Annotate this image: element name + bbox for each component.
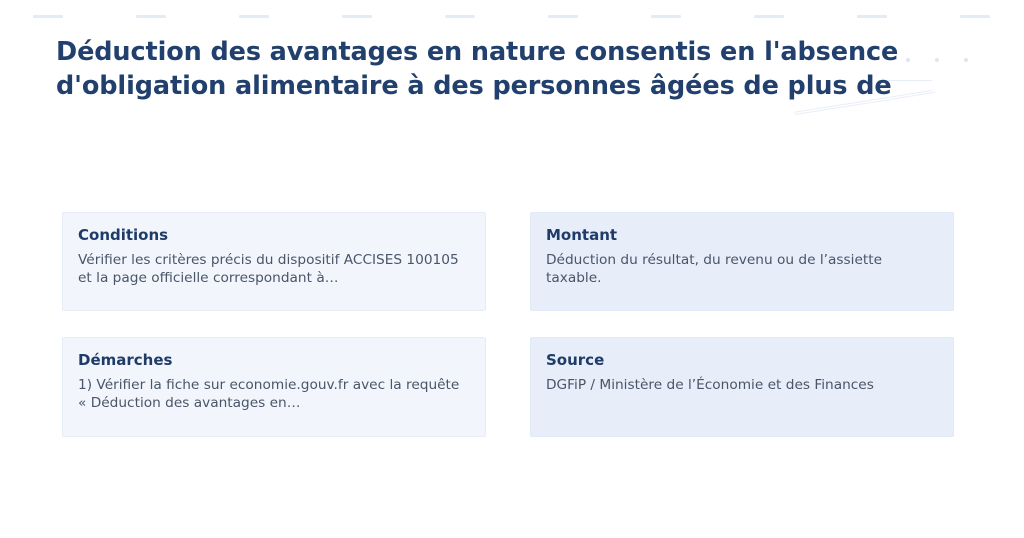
decorative-dash bbox=[239, 15, 269, 18]
decorative-dash bbox=[342, 15, 372, 18]
slide-canvas: Déduction des avantages en nature consen… bbox=[0, 0, 1024, 538]
decorative-dash bbox=[960, 15, 990, 18]
decorative-dash bbox=[548, 15, 578, 18]
info-card-title: Source bbox=[546, 352, 937, 369]
info-card-conditions: ConditionsVérifier les critères précis d… bbox=[62, 212, 486, 311]
info-card-title: Montant bbox=[546, 227, 937, 244]
info-card-body: Déduction du résultat, du revenu ou de l… bbox=[546, 251, 937, 289]
decorative-dash bbox=[651, 15, 681, 18]
info-card-title: Conditions bbox=[78, 227, 469, 244]
decorative-dash bbox=[136, 15, 166, 18]
decorative-dash-row bbox=[0, 15, 1024, 19]
info-card-body: DGFiP / Ministère de l’Économie et des F… bbox=[546, 376, 937, 395]
decorative-dash bbox=[445, 15, 475, 18]
decorative-dot bbox=[964, 58, 968, 62]
page-title: Déduction des avantages en nature consen… bbox=[56, 36, 916, 104]
info-card-demarches: Démarches1) Vérifier la fiche sur econom… bbox=[62, 337, 486, 437]
info-card-title: Démarches bbox=[78, 352, 469, 369]
info-card-source: SourceDGFiP / Ministère de l’Économie et… bbox=[530, 337, 954, 437]
decorative-dash bbox=[33, 15, 63, 18]
info-card-body: Vérifier les critères précis du disposit… bbox=[78, 251, 469, 289]
info-card-grid: ConditionsVérifier les critères précis d… bbox=[62, 212, 965, 437]
decorative-dash bbox=[857, 15, 887, 18]
decorative-dot bbox=[935, 58, 939, 62]
decorative-dash bbox=[754, 15, 784, 18]
info-card-body: 1) Vérifier la fiche sur economie.gouv.f… bbox=[78, 376, 469, 414]
info-card-montant: MontantDéduction du résultat, du revenu … bbox=[530, 212, 954, 311]
